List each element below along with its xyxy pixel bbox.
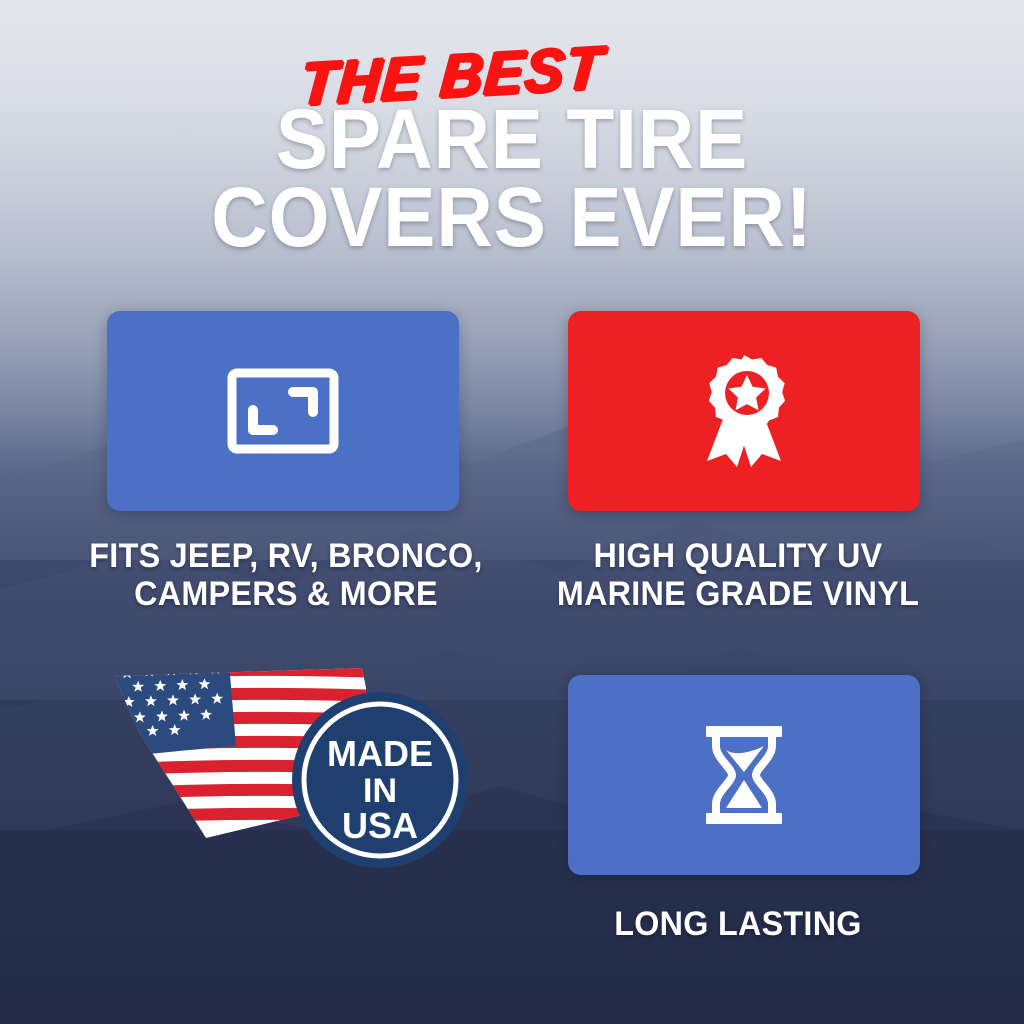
feature-quality-caption: HIGH QUALITY UV MARINE GRADE VINYL [466, 537, 1009, 613]
headline-title: SPARE TIRE COVERS EVER! [36, 100, 988, 256]
headline-block: THE BEST SPARE TIRE COVERS EVER! [0, 0, 1024, 256]
feature-long-lasting: LONG LASTING [452, 675, 1024, 943]
headline-line-1: SPARE TIRE [36, 100, 988, 178]
feature-long-lasting-card[interactable] [568, 675, 920, 875]
badge-line-3: USA [342, 805, 418, 846]
feature-fits-caption-line-2: CAMPERS & MORE [134, 575, 438, 613]
feature-long-lasting-caption-line-1: LONG LASTING [614, 905, 861, 943]
headline-line-2: COVERS EVER! [36, 178, 988, 256]
feature-quality: HIGH QUALITY UV MARINE GRADE VINYL [452, 311, 1024, 613]
feature-long-lasting-caption: LONG LASTING [466, 905, 1009, 943]
badge-line-1: MADE [327, 733, 433, 774]
promo-poster: THE BEST SPARE TIRE COVERS EVER! FITS JE… [0, 0, 1024, 1024]
feature-quality-caption-line-2: MARINE GRADE VINYL [557, 575, 919, 613]
made-in-usa-badge-icon: MADE IN USA [290, 690, 470, 875]
award-ribbon-icon [692, 353, 796, 469]
feature-made-in-usa: MADE IN USA [0, 660, 520, 870]
feature-fits-card[interactable] [107, 311, 459, 511]
feature-fits-caption-line-1: FITS JEEP, RV, BRONCO, [89, 537, 482, 575]
feature-quality-card[interactable] [568, 311, 920, 511]
feature-quality-caption-line-1: HIGH QUALITY UV [593, 537, 882, 575]
resize-frame-icon [227, 368, 339, 454]
hourglass-icon [702, 724, 786, 826]
